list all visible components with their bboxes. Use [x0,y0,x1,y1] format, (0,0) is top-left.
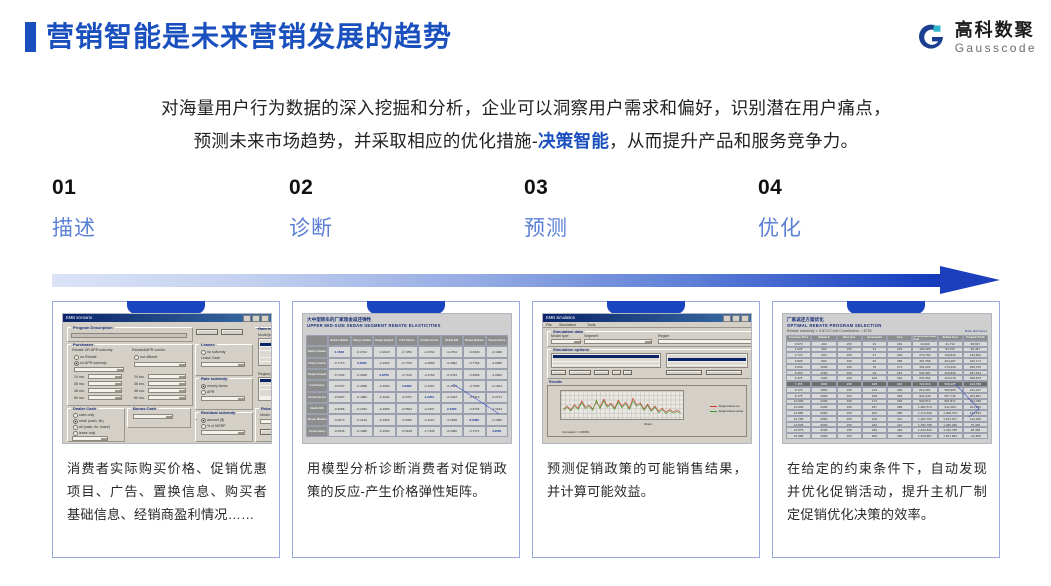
matrix-cell: -0.7784 [463,358,486,369]
matrix-row-header: Dodge Intrepid [306,369,328,380]
matrix-cell: -0.1986 [351,392,374,403]
radio-retail-cash[interactable] [73,419,78,424]
card-optimize[interactable]: 厂家返还方案优化 OPTIMAL REBATE PROGRAM SELECTIO… [772,301,1000,558]
rebate-cell: 265 [862,433,887,439]
combo-24mo-rate[interactable] [148,374,186,379]
matrix-row-header: Chevy Lumina [306,358,328,369]
bonus-cash-select[interactable] [133,414,173,419]
matrix-cell: -2.0602 [486,369,509,380]
matrix-cell: 8.6480 [463,414,486,425]
rebate-title-en: OPTIMAL REBATE PROGRAM SELECTION [787,323,882,328]
matrix-cell: -2.1643 [486,403,509,414]
card-caption: 预测促销政策的可能销售结果，并计算可能效益。 [547,457,747,503]
matrix-cell: -0.2692 [441,358,464,369]
rebate-cell: 1,534,897 [912,433,937,439]
matrix-cell: -0.7110 [396,369,419,380]
matrix-cell: 4.2581 [486,426,509,437]
purchase-36mo-select[interactable] [88,381,122,386]
segment-select[interactable] [584,339,652,344]
card-caption: 消费者实际购买价格、促销优惠项目、广告、置换信息、购买者基础信息、经销商盈利情况… [67,457,267,526]
matrix-cell: -0.8340 [463,346,486,357]
matrix-col-header: Mazda 626 [441,335,464,346]
add-button[interactable] [551,370,566,375]
purchase-60mo-select[interactable] [88,395,122,400]
matrix-cell: -0.7713 [328,358,351,369]
move-up-button[interactable] [612,370,621,375]
screenshot-optimal-rebate: 厂家返还方案优化 OPTIMAL REBATE PROGRAM SELECTIO… [782,313,992,444]
results-label: Results [549,380,562,384]
matrix-cell: -0.5645 [328,426,351,437]
rebate-corner-note: Buick Shift Series [965,329,987,333]
matrix-col-header: Nissan Maxima [463,335,486,346]
purchase-24mo-select[interactable] [88,374,122,379]
matrix-cell: -0.8704 [463,403,486,414]
rebate-cell: 15.385 [786,433,811,439]
model-list[interactable] [258,338,272,366]
radio-amount[interactable] [201,418,206,423]
radio-pct-msrp[interactable] [201,424,206,429]
combo-60mo-rate[interactable] [148,395,186,400]
card-caption: 用模型分析诊断消费者对促销政策的反应-产生价格弹性矩阵。 [307,457,507,503]
matrix-cell: -0.1642 [373,392,396,403]
matrix-cell: -0.7371 [463,426,486,437]
matrix-cell: -0.2588 [351,380,374,391]
scenario-name-input[interactable] [71,333,187,338]
matrix-cell: -2.2337 [418,403,441,414]
matrix-cell: 0.9480 [396,380,419,391]
radio-no-apr-subvendy[interactable] [74,361,79,366]
matrix-cell: -0.2293 [441,392,464,403]
lease-cash-select[interactable] [201,362,245,367]
step-headings: 01 描述 02 诊断 03 预测 04 优化 [52,176,1000,248]
matrix-cell: -0.6199 [396,426,419,437]
matrix-row-header: Nissan Maxima [306,414,328,425]
matrix-cell: -0.7314 [463,392,486,403]
matrix-cell: -0.6504 [396,403,419,414]
rebase-clear-button[interactable] [260,429,272,435]
radio-not-offered[interactable] [134,355,139,360]
elasticity-grid: Buick LeSabreChevy LuminaDodge IntrepidF… [306,335,508,437]
chart-legend: Dodge Dakota est Dodge Dakota actual [710,404,743,414]
matrix-row-header: Mazda 626 [306,403,328,414]
menu-tools[interactable]: Tools [587,323,595,327]
matrix-cell: -0.1869 [373,414,396,425]
msrp-anchor [195,418,197,420]
chart-xaxis-label: Weeks [644,423,652,426]
radio-all-cash-fin-lease[interactable] [73,425,78,430]
matrix-cell: -0.1899 [373,403,396,414]
matrix-cell: -0.7254 [396,346,419,357]
matrix-cell: -0.5767 [396,392,419,403]
rate-subvendy-select[interactable] [201,396,245,401]
group-program-description: Program Description [67,327,193,342]
matrix-col-header: Ford Taurus [396,335,419,346]
card-row: EMB scenario Program Description Purchas… [52,301,1000,559]
rebate-cell: 1,547,284 [938,433,963,439]
matrix-cell: -0.2018 [373,346,396,357]
matrix-cell: -0.8490 [463,369,486,380]
matrix-col-header: Dodge Intrepid [373,335,396,346]
chart-footnote: Correlation = 0.96583 [562,430,589,434]
matrix-cell: -0.2742 [351,346,374,357]
group-purchases: Purchases Rebate OR APR subvndy Rebate&A… [67,344,193,406]
step-number: 01 [52,176,252,200]
matrix-title-en: UPPER MID-SIZE SEDAN SEGMENT REBATE ELAS… [307,323,441,328]
step-04: 04 优化 [758,176,958,200]
arrow-bar [52,274,947,287]
group-simulation-options: Simulation options [547,349,752,379]
matrix-cell: -0.2233 [351,403,374,414]
purchase-48mo-select[interactable] [88,388,122,393]
step-03: 03 预测 [524,176,724,200]
results-panel: Dodge Dakota est Dodge Dakota actual Wee… [547,385,747,437]
legend-actual: Dodge Dakota actual [719,410,743,413]
matrix-cell: -2.1982 [486,414,509,425]
matrix-row-header: Honda Accord [306,392,328,403]
matrix-col-header: Chevy Lumina [351,335,374,346]
logo-name-cn: 高科数聚 [955,21,1037,39]
matrix-cell: -0.6266 [328,403,351,414]
matrix-cell: -0.7793 [396,358,419,369]
slide-header: 营销智能是未来营销发展的趋势 高科数聚 Gausscode [0,0,1051,72]
group-bonus-cash: Bonus Cash [127,408,191,428]
page-title: 营销智能是未来营销发展的趋势 [46,18,452,56]
matrix-cell: -0.2928 [351,369,374,380]
menubar[interactable]: File Simulation Tools [543,322,751,328]
matrix-cell: -2.2271 [486,392,509,403]
progression-arrow [52,266,1000,294]
matrix-row-header: Buick LeSabre [306,346,328,357]
models-list[interactable] [666,353,748,368]
group-simulation-data: Simulation data Model type Segment Regio… [547,331,752,347]
matrix-cell: -0.1991 [373,358,396,369]
window-controls [243,315,269,322]
card-caption: 在给定的约束条件下，自动发现并优化促销活动，提升主机厂制定促销优化决策的效率。 [787,457,987,526]
rebate-cell: 150 [837,433,862,439]
matrix-cell: 2.2583 [351,358,374,369]
matrix-cell: -0.6352 [396,414,419,425]
matrix-col-header: Buick LeSabre [328,335,351,346]
screenshot-emb-scenario: EMB scenario Program Description Purchas… [62,313,272,444]
region-list[interactable] [258,377,272,401]
window-title: EMB scenario [66,315,92,320]
step-number: 02 [289,176,489,200]
window-titlebar: EMB scenario [63,314,271,322]
matrix-cell: -2.2702 [418,369,441,380]
combo-36mo-rate[interactable] [148,381,186,386]
group-residual-subvendy: Residual subvndy amount ($) % of MSRP [195,412,253,442]
close-button[interactable] [221,329,243,335]
matrix-cell: -2.1923 [486,380,509,391]
edit-button[interactable] [594,370,609,375]
logo-wordmark: 高科数聚 Gausscode [955,21,1037,54]
matrix-cell: -0.2794 [441,369,464,380]
matrix-cell: -0.2380 [441,426,464,437]
card-predict[interactable]: EMB simulation File Simulation Tools Sim… [532,301,760,558]
intro-line-2a: 预测未来市场趋势，并采取相应的优化措施- [194,131,538,151]
rebase-model-select[interactable] [260,419,272,424]
screenshot-elasticity-matrix: 大中型轿车的厂家现金返还弹性 UPPER MID-SIZE SEDAN SEGM… [302,313,512,444]
remove-button[interactable] [569,370,591,375]
chart-plot-area [560,390,684,420]
radio-apr[interactable] [201,390,206,395]
group-rate-subvendy: Rate subvndy money factor APR [195,378,253,410]
matrix-row-header: Ford Taurus [306,380,328,391]
matrix-cell: -2.1497 [418,380,441,391]
arrow-head-icon [940,266,1000,294]
rebate-cell: 3400 [811,433,836,439]
intro-paragraph: 对海量用户行为数据的深入挖掘和分析，企业可以洞察用户需求和偏好，识别潜在用户痛点… [52,92,1000,158]
step-label: 优化 [758,216,802,242]
screenshot-emb-simulation: EMB simulation File Simulation Tools Sim… [542,313,752,444]
matrix-cell: -0.7500 [463,380,486,391]
matrix-cell: -2.1207 [418,414,441,425]
rebate-subtitle: Rebate elasticity = 0.8712 Unit Contribu… [787,329,872,333]
matrix-cell: -0.2649 [441,380,464,391]
slide-root: 营销智能是未来营销发展的趋势 高科数聚 Gausscode 对海量用户行为数据的… [0,0,1051,586]
save-button[interactable] [196,329,218,335]
matrix-col-header: Toyota Camry [486,335,509,346]
matrix-cell: -0.7204 [328,369,351,380]
matrix-cell: -0.5497 [328,392,351,403]
matrix-row-header: Toyota Camry [306,426,328,437]
window-title: EMB simulation [546,315,575,320]
matrix-cell: 4.2253 [418,392,441,403]
radio-money-factor[interactable] [201,384,206,389]
step-01: 01 描述 [52,176,252,200]
rebate-cell: 456 [887,433,912,439]
matrix-cell: -2.2806 [418,358,441,369]
rebate-cell: -22,389 [963,433,988,439]
combo-offer[interactable] [134,362,186,367]
options-list[interactable] [551,353,661,368]
window-controls [723,315,749,322]
matrix-cell: -1.7436 [418,426,441,437]
step-label: 描述 [52,216,96,242]
matrix-cell: -0.1660 [373,426,396,437]
model-type-select[interactable] [551,339,581,344]
intro-line-2b: ，从而提升产品和服务竞争力。 [609,131,858,151]
purchase-amount-select[interactable] [74,367,124,372]
region-select[interactable] [658,339,752,344]
gausscode-logo-icon [914,20,948,54]
title-accent-bar [25,22,36,52]
rebate-grid: Customer PriceRebate $Base LineIncrement… [786,335,988,439]
window-titlebar: EMB simulation [543,314,751,322]
step-number: 03 [524,176,724,200]
menu-file[interactable]: File [546,323,552,327]
select-all-button[interactable] [666,370,702,375]
intro-line-1: 对海量用户行为数据的深入挖掘和分析，企业可以洞察用户需求和偏好，识别潜在用户痛点… [161,98,891,118]
step-label: 诊断 [289,216,333,242]
matrix-col-header: Honda Accord [418,335,441,346]
matrix-corner [306,335,328,346]
clear-all-button[interactable] [706,370,742,375]
logo-name-en: Gausscode [955,42,1037,54]
step-label: 预测 [524,216,568,242]
matrix-cell: 1.1548 [328,346,351,357]
matrix-cell: -0.2149 [351,414,374,425]
radio-no-subvendy[interactable] [201,350,206,355]
residual-subvendy-select[interactable] [201,430,245,435]
legend-estimate: Dodge Dakota est [719,405,740,408]
label-gain-incentives: Gain incentives [258,326,272,331]
matrix-cell: -0.6073 [328,414,351,425]
card-describe[interactable]: EMB scenario Program Description Purchas… [52,301,280,558]
group-leases: Leases no subvndy Lease Cash [195,344,253,376]
group-rebase-incentives: Rebase incentives Model Region [255,408,272,442]
matrix-cell: -2.0858 [486,358,509,369]
matrix-cell: -0.2638 [441,414,464,425]
matrix-cell: -0.1860 [373,380,396,391]
matrix-cell: 2.4293 [441,403,464,414]
step-number: 04 [758,176,958,200]
combo-48mo-rate[interactable] [148,388,186,393]
matrix-cell: -2.2792 [418,346,441,357]
matrix-cell: 0.8752 [373,369,396,380]
matrix-cell: -2.1096 [486,346,509,357]
radio-no-rebate[interactable] [74,355,79,360]
dealer-cash-select[interactable] [72,436,108,441]
move-down-button[interactable] [623,370,632,375]
radio-cash-only[interactable] [73,413,78,418]
matrix-cell: -0.6797 [328,380,351,391]
brand-logo: 高科数聚 Gausscode [914,20,1037,54]
matrix-cell: -0.2794 [441,346,464,357]
menu-simulation[interactable]: Simulation [559,323,576,327]
matrix-cell: -0.1988 [351,426,374,437]
step-02: 02 诊断 [289,176,489,200]
intro-highlight: 决策智能 [538,131,609,151]
card-diagnose[interactable]: 大中型轿车的厂家现金返还弹性 UPPER MID-SIZE SEDAN SEGM… [292,301,520,558]
